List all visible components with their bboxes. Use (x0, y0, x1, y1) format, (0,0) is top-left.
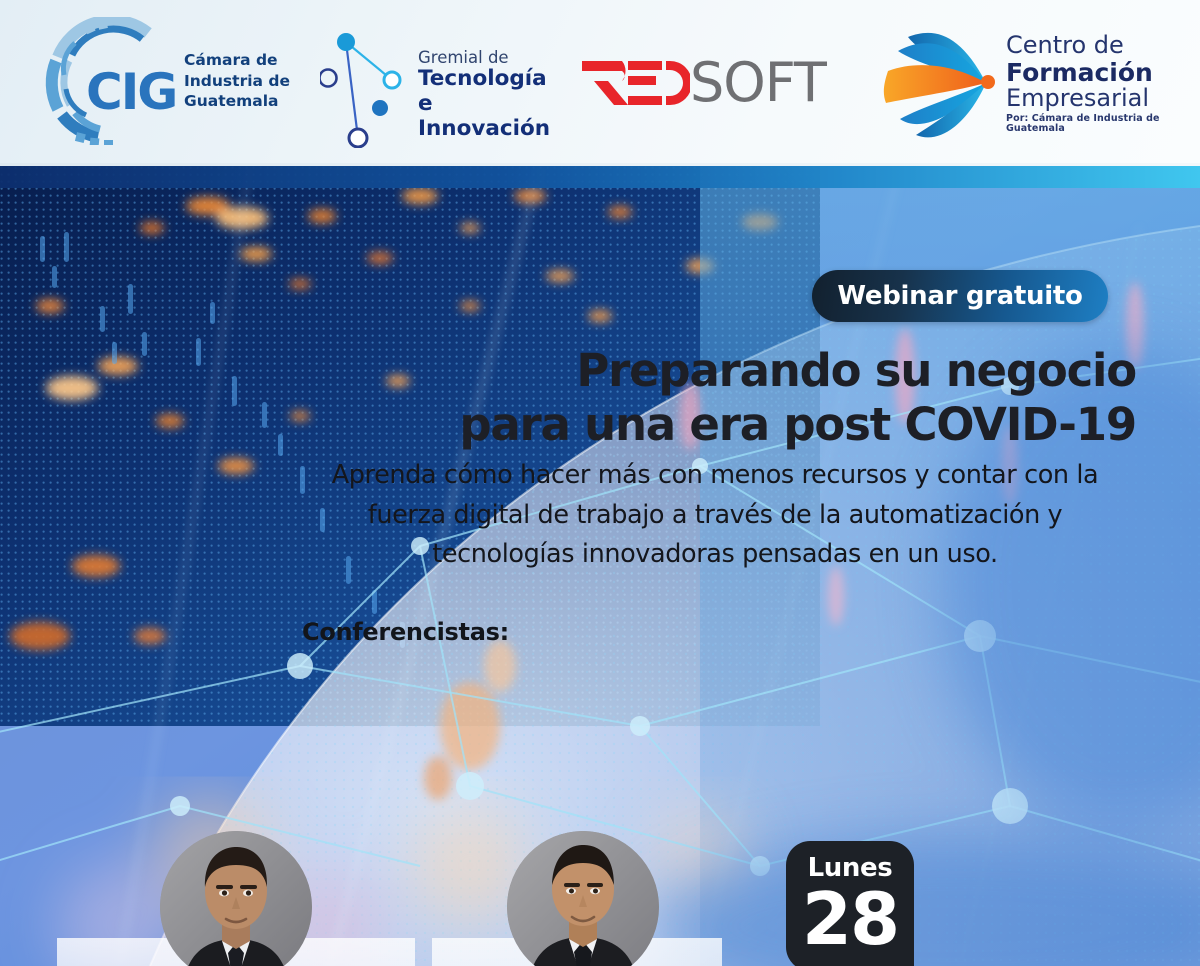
logo-cig: CIG Cámara de Industria de Guatemala (42, 16, 342, 146)
webinar-badge: Webinar gratuito (812, 270, 1108, 322)
logo-centro-formacion-empresarial: Centro de Formación Empresarial Por: Cám… (868, 18, 1188, 150)
page-subtitle: Aprenda cómo hacer más con menos recurso… (300, 456, 1130, 575)
date-weekday: Lunes (786, 841, 914, 881)
network-nodes-icon (320, 20, 416, 148)
cfe-line4: Por: Cámara de Industria de Guatemala (1006, 114, 1188, 135)
cig-letters: CIG (86, 67, 176, 117)
logo-gremial-tecnologia: Gremial de Tecnología e Innovación (320, 20, 570, 150)
gremial-line2: Tecnología e Innovación (418, 67, 570, 142)
page-title: Preparando su negocio para una era post … (306, 344, 1136, 452)
speakers-heading: Conferencistas: (302, 618, 509, 646)
gremial-line1: Gremial de (418, 48, 570, 67)
swirl-petals-icon (868, 19, 1000, 149)
redsoft-red-wordmark-icon (578, 55, 690, 111)
hero-top-accent-band (0, 166, 1200, 188)
cfe-line1: Centro de (1006, 33, 1188, 59)
title-line-1: Preparando su negocio (306, 344, 1136, 398)
webinar-badge-label: Webinar gratuito (837, 281, 1082, 311)
webinar-poster: CIG Cámara de Industria de Guatemala Gre… (0, 0, 1200, 966)
date-card: Lunes 28 (786, 841, 914, 966)
logo-redsoft: SOFT (578, 48, 853, 118)
cfe-line3: Empresarial (1006, 86, 1188, 112)
cfe-line2: Formación (1006, 59, 1188, 86)
sponsor-logo-header: CIG Cámara de Industria de Guatemala Gre… (0, 0, 1200, 166)
cig-wordmark: Cámara de Industria de Guatemala (184, 50, 290, 112)
cig-ring-icon: CIG (42, 17, 174, 145)
redsoft-soft-wordmark: SOFT (690, 56, 826, 110)
date-day: 28 (786, 885, 914, 954)
title-line-2: para una era post COVID-19 (306, 398, 1136, 452)
hero-section: Webinar gratuito Preparando su negocio p… (0, 166, 1200, 966)
